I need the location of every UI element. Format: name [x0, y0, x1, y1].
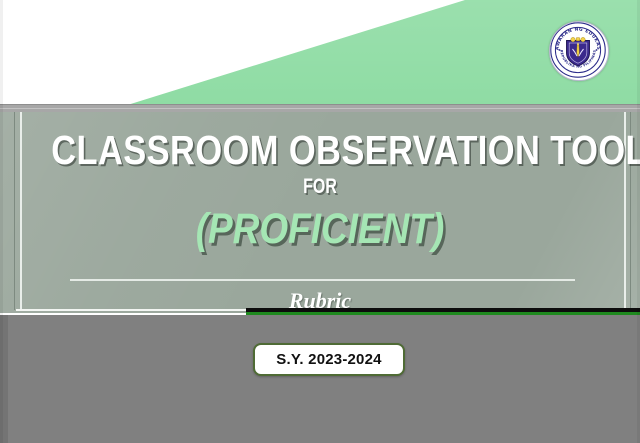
title-slide: KAGAWARAN NG EDUKASYON REPUBLIKA NG PILI…: [0, 0, 640, 443]
header-band: KAGAWARAN NG EDUKASYON REPUBLIKA NG PILI…: [0, 0, 640, 106]
school-year-badge: S.Y. 2023-2024: [253, 343, 405, 376]
panel-rule-left: [20, 112, 22, 310]
bottom-rule-white: [16, 309, 250, 311]
title-panel: CLASSROOM OBSERVATION TOOL-RPMS FOR (PRO…: [0, 112, 640, 313]
title-divider-line: [70, 279, 575, 281]
title-proficiency-level: (PROFICIENT): [45, 204, 595, 254]
header-separator-highlight: [0, 108, 640, 109]
panel-rule-left-dark: [14, 112, 15, 310]
title-connector-for: FOR: [77, 176, 563, 198]
green-diagonal-sheen: [0, 0, 640, 106]
page-title: CLASSROOM OBSERVATION TOOL-RPMS: [51, 128, 589, 172]
page-edge-left: [0, 0, 3, 443]
deped-seal-logo: KAGAWARAN NG EDUKASYON REPUBLIKA NG PILI…: [549, 21, 609, 81]
footer-area: S.Y. 2023-2024: [0, 315, 640, 443]
